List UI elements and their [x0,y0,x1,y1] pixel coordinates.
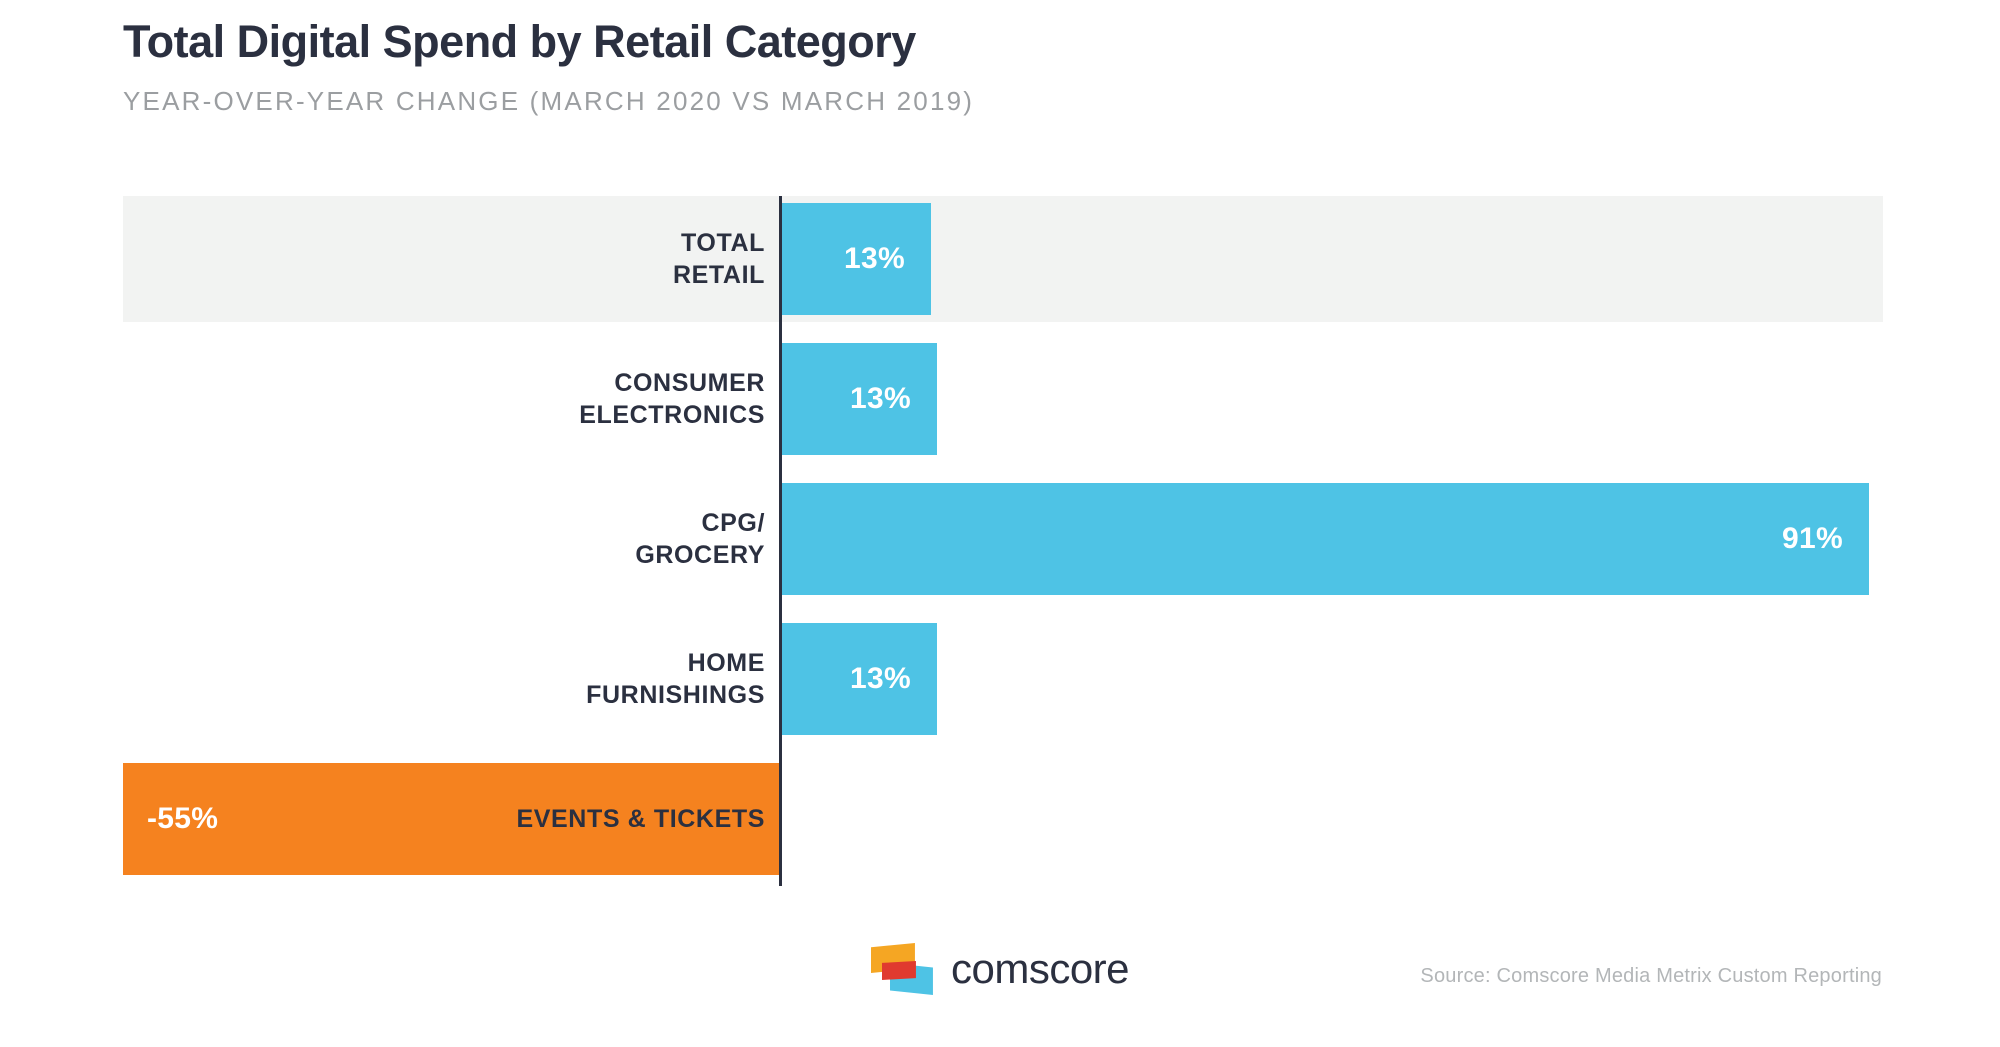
chart-header: Total Digital Spend by Retail Category Y… [123,16,1923,117]
bar-value-total-retail: 13% [844,242,905,276]
bar-row-cpg-grocery[interactable]: CPG/ GROCERY 91% [0,483,2000,595]
category-label-events-tickets: EVENTS & TICKETS [0,803,765,835]
category-label-cpg-grocery: CPG/ GROCERY [0,507,765,571]
bar-consumer-electronics[interactable]: 13% [781,343,937,455]
comscore-logo-mark-icon [871,943,933,995]
bar-value-consumer-electronics: 13% [850,382,911,416]
bar-row-home-furnishings[interactable]: HOME FURNISHINGS 13% [0,623,2000,735]
zero-axis-line [779,196,782,886]
bar-row-events-tickets[interactable]: -55% EVENTS & TICKETS [0,763,2000,875]
chart-footer: comscore Source: Comscore Media Metrix C… [0,925,2000,1035]
bar-cpg-grocery[interactable]: 91% [781,483,1869,595]
chart-plot-area: TOTAL RETAIL 13% CONSUMER ELECTRONICS 13… [0,190,2000,890]
category-label-line1: CONSUMER [614,369,765,397]
category-label-home-furnishings: HOME FURNISHINGS [0,647,765,711]
bar-value-home-furnishings: 13% [850,662,911,696]
category-label-line2: FURNISHINGS [586,681,765,709]
source-note: Source: Comscore Media Metrix Custom Rep… [1420,965,1882,988]
category-label-line2: GROCERY [635,541,765,569]
page-title: Total Digital Spend by Retail Category [123,16,1923,68]
bar-total-retail[interactable]: 13% [781,203,931,315]
bar-row-total-retail[interactable]: TOTAL RETAIL 13% [0,203,2000,315]
category-label-line1: HOME [688,649,765,677]
category-label-line1: TOTAL [681,229,765,257]
category-label-line1: EVENTS & TICKETS [516,805,765,833]
chart-subtitle: YEAR-OVER-YEAR CHANGE (MARCH 2020 VS MAR… [123,86,1923,117]
category-label-line2: RETAIL [673,261,765,289]
bar-row-consumer-electronics[interactable]: CONSUMER ELECTRONICS 13% [0,343,2000,455]
bar-value-cpg-grocery: 91% [1782,522,1843,556]
logo-red-shape [882,961,916,980]
comscore-logo-text: comscore [951,945,1129,993]
bar-home-furnishings[interactable]: 13% [781,623,937,735]
category-label-total-retail: TOTAL RETAIL [0,227,765,291]
comscore-logo: comscore [871,943,1129,995]
category-label-consumer-electronics: CONSUMER ELECTRONICS [0,367,765,431]
category-label-line1: CPG/ [701,509,765,537]
category-label-line2: ELECTRONICS [579,401,765,429]
